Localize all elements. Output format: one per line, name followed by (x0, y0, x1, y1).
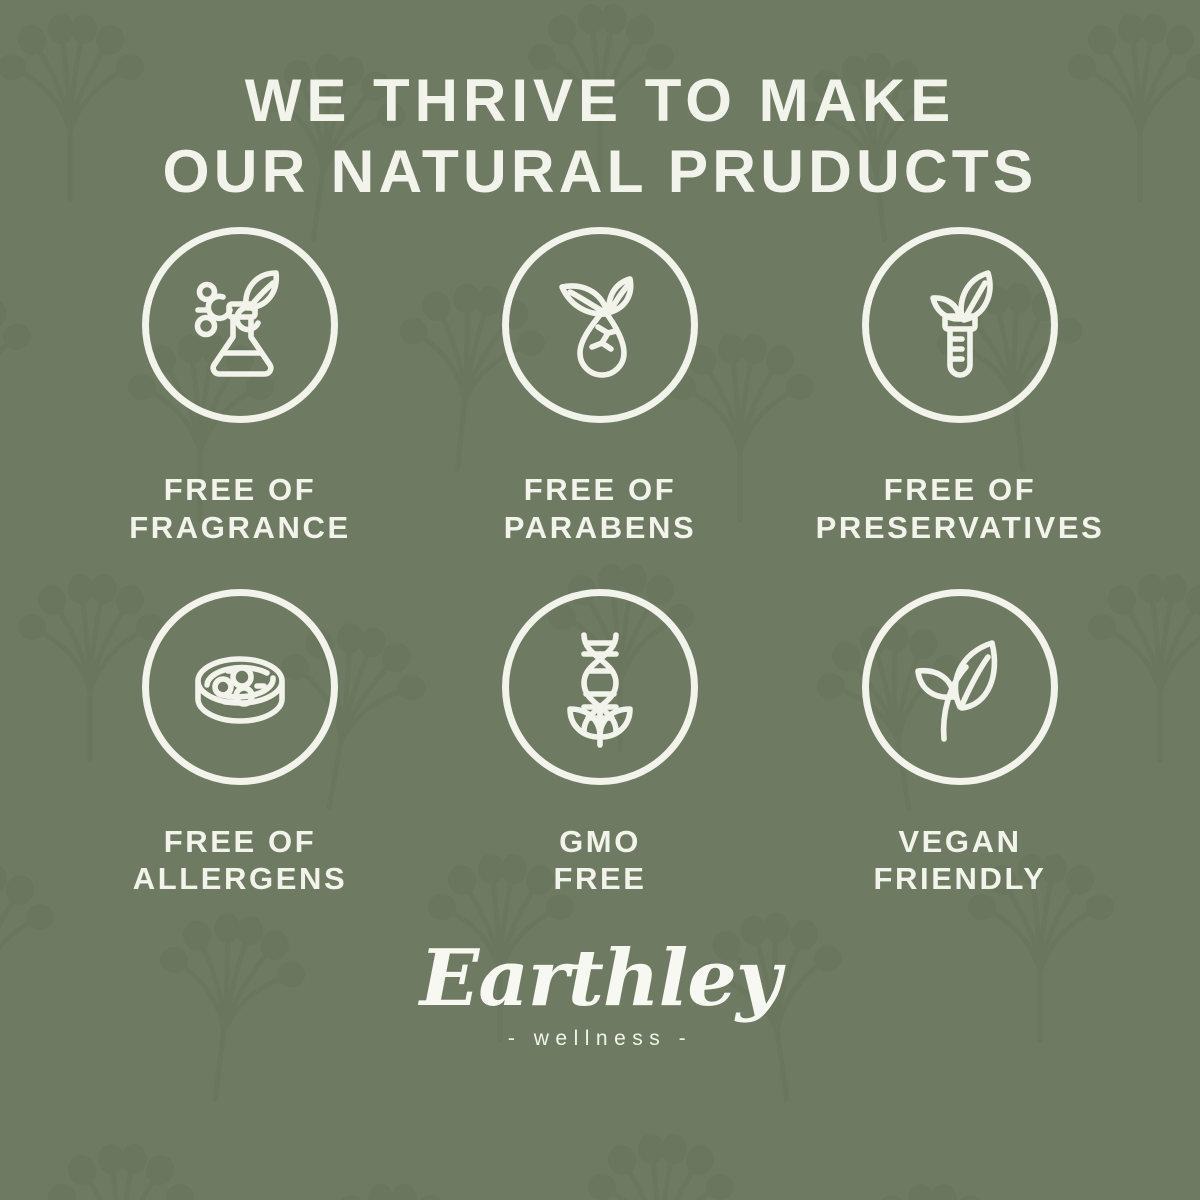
badge-ring (502, 589, 698, 785)
badge-label: FREE OF ALLERGENS (133, 823, 348, 899)
badge-free-of-parabens: FREE OF PARABENS (420, 227, 780, 547)
badge-label: FREE OF PARABENS (504, 471, 696, 547)
badge-free-of-allergens: FREE OF ALLERGENS (60, 589, 420, 899)
page-title: WE THRIVE TO MAKE OUR NATURAL PRUDUCTS (40, 0, 1160, 207)
badge-ring (142, 227, 338, 423)
badge-ring (862, 227, 1058, 423)
benefits-grid: FREE OF FRAGRANCE (60, 227, 1140, 898)
badge-label: GMO FREE (553, 823, 646, 899)
badge-free-of-fragrance: FREE OF FRAGRANCE (60, 227, 420, 547)
badge-ring (142, 589, 338, 785)
badge-ring (502, 227, 698, 423)
brand-tagline: - wellness - (508, 1028, 692, 1049)
badge-label: VEGAN FRIENDLY (874, 823, 1047, 899)
two-leaves-icon (896, 623, 1024, 751)
badge-vegan-friendly: VEGAN FRIENDLY (780, 589, 1140, 899)
headline-line-2: OUR NATURAL PRUDUCTS (40, 136, 1160, 207)
badge-label: FREE OF PRESERVATIVES (816, 471, 1105, 547)
petri-dish-cells-icon (176, 623, 304, 751)
badge-ring (862, 589, 1058, 785)
dna-helix-leaf-icon (536, 623, 664, 751)
brand-wordmark: Earthley (420, 940, 780, 1018)
test-tube-leaf-icon (896, 261, 1024, 389)
droplet-leaf-molecule-icon (536, 261, 664, 389)
flask-leaf-bubbles-icon (176, 261, 304, 389)
promo-poster: WE THRIVE TO MAKE OUR NATURAL PRUDUCTS (0, 0, 1200, 1200)
brand-logo: Earthley - wellness - (420, 940, 780, 1049)
badge-gmo-free: GMO FREE (420, 589, 780, 899)
headline-line-1: WE THRIVE TO MAKE (40, 66, 1160, 136)
badge-label: FREE OF FRAGRANCE (129, 471, 350, 547)
badge-free-of-preservatives: FREE OF PRESERVATIVES (780, 227, 1140, 547)
